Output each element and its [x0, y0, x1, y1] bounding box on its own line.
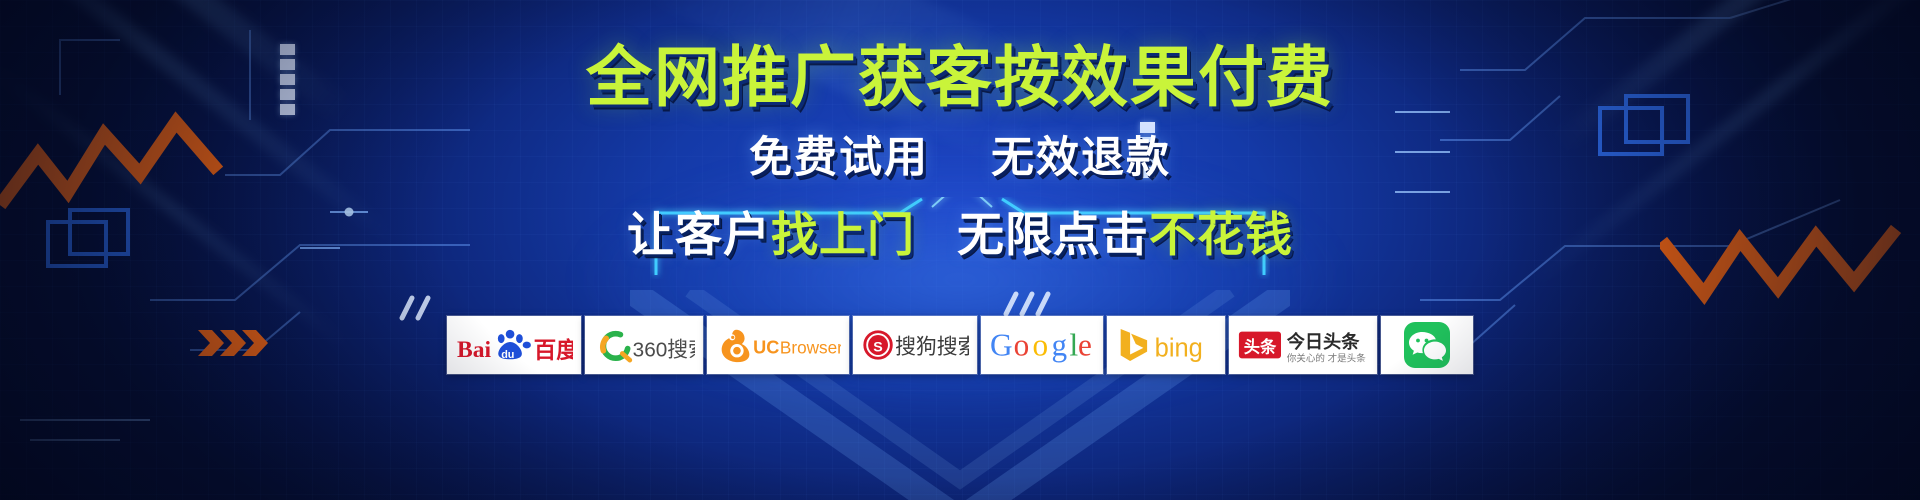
orange-zigzag-left — [0, 100, 240, 220]
tagline-2-white: 无限点击 — [957, 208, 1149, 261]
tagline-1-accent: 找上门 — [771, 208, 915, 261]
logo-baidu[interactable]: Bai du 百度 — [447, 316, 581, 374]
logo-toutiao[interactable]: 头条 今日头条 你关心的 才是头条 — [1229, 316, 1377, 374]
svg-text:e: e — [1078, 327, 1092, 362]
banner-tagline: 让客户找上门无限点击不花钱 — [627, 211, 1293, 258]
arrow-group-left — [196, 328, 272, 358]
square-stack-left — [280, 44, 295, 115]
svg-text:Browser: Browser — [780, 338, 841, 358]
svg-text:你关心的 才是头条: 你关心的 才是头条 — [1287, 352, 1366, 364]
logo-wechat[interactable] — [1381, 316, 1473, 374]
svg-text:du: du — [501, 349, 514, 361]
svg-text:UC: UC — [753, 338, 779, 358]
svg-text:今日头条: 今日头条 — [1286, 331, 1360, 352]
svg-text:头条: 头条 — [1244, 338, 1277, 357]
wechat-logo-icon — [1403, 321, 1451, 369]
bing-logo-icon: bing — [1115, 325, 1217, 365]
svg-text:S: S — [873, 340, 882, 356]
svg-text:o: o — [1033, 327, 1049, 362]
banner-headline: 全网推广获客按效果付费 — [586, 44, 1334, 110]
subline-right: 无效退款 — [991, 134, 1171, 182]
tagline-1-white: 让客户 — [627, 208, 771, 261]
svg-text:G: G — [990, 327, 1013, 362]
promo-banner: 全网推广获客按效果付费 免费试用 无效退款 — [0, 0, 1920, 500]
svg-text:百度: 百度 — [534, 337, 573, 363]
svg-text:g: g — [1051, 327, 1067, 362]
logo-bing[interactable]: bing — [1107, 316, 1225, 374]
svg-text:搜狗搜索: 搜狗搜索 — [895, 336, 969, 359]
360-search-logo-icon: 360搜索 — [593, 325, 695, 365]
logo-360-search[interactable]: 360搜索 — [585, 316, 703, 374]
banner-subline: 免费试用 无效退款 — [749, 137, 1171, 180]
svg-text:bing: bing — [1155, 334, 1203, 362]
svg-text:Bai: Bai — [457, 337, 492, 363]
logo-sogou[interactable]: S 搜狗搜索 — [853, 316, 977, 374]
tagline-2-accent: 不花钱 — [1149, 208, 1293, 261]
toutiao-logo-icon: 头条 今日头条 你关心的 才是头条 — [1237, 324, 1369, 366]
logo-google[interactable]: G o o g l e — [981, 316, 1103, 374]
svg-text:360搜索: 360搜索 — [633, 338, 695, 361]
baidu-logo-icon: Bai du 百度 — [455, 325, 573, 365]
sogou-logo-icon: S 搜狗搜索 — [861, 325, 969, 365]
google-logo-icon: G o o g l e — [989, 325, 1095, 365]
orange-zigzag-right — [1660, 210, 1920, 320]
logo-uc-browser[interactable]: UC Browser — [707, 316, 849, 374]
uc-browser-logo-icon: UC Browser — [715, 325, 841, 365]
chevron-arrows-left-icon — [196, 328, 272, 358]
svg-text:o: o — [1014, 327, 1030, 362]
partner-logo-bar: Bai du 百度 360搜索 — [447, 316, 1473, 374]
tick-marks-left — [396, 292, 442, 326]
subline-left: 免费试用 — [749, 134, 929, 182]
